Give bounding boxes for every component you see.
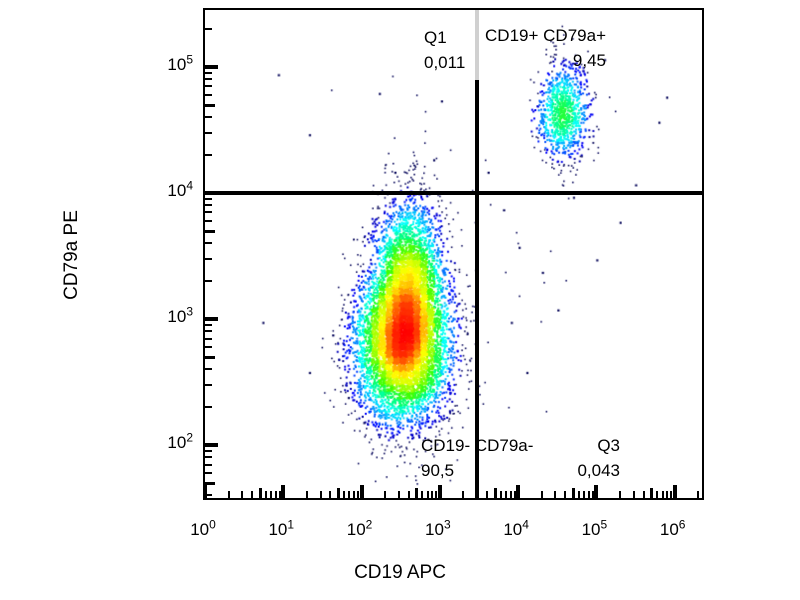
x-tick-label: 106	[660, 520, 686, 540]
y-tick-minor	[205, 198, 212, 200]
x-tick-minor	[476, 491, 478, 498]
x-tick-minor	[259, 488, 262, 498]
x-tick-minor	[697, 491, 699, 498]
quadrant-q3-percent: 0,043	[577, 459, 620, 484]
x-tick-minor	[306, 491, 308, 498]
x-tick-minor	[353, 491, 355, 498]
x-tick-minor	[564, 491, 566, 498]
x-tick-minor	[656, 491, 658, 498]
x-tick-label: 105	[582, 520, 608, 540]
x-tick-label: 100	[190, 520, 216, 540]
quadrant-gate-vertical-upper[interactable]	[475, 10, 479, 80]
x-tick-minor	[494, 488, 497, 498]
x-tick-minor	[398, 491, 400, 498]
y-tick-minor	[205, 220, 212, 222]
x-tick-minor	[505, 491, 507, 498]
x-tick-label: 102	[347, 520, 373, 540]
x-tick-minor	[510, 491, 512, 498]
x-tick-major	[360, 485, 364, 498]
x-tick-minor	[320, 491, 322, 498]
y-tick-minor	[205, 78, 212, 80]
x-tick-minor	[348, 491, 350, 498]
y-tick-minor	[205, 242, 212, 244]
y-tick-minor	[205, 104, 215, 107]
scatter-plot-canvas	[205, 10, 702, 498]
y-tick-minor	[205, 406, 212, 408]
y-tick-minor	[205, 258, 212, 260]
y-tick-minor	[205, 94, 212, 96]
quadrant-q4-percent: 90,5	[421, 459, 533, 484]
y-tick-minor	[205, 154, 212, 156]
y-tick-minor	[205, 482, 215, 485]
y-tick-minor	[205, 116, 212, 118]
y-tick-minor	[205, 368, 212, 370]
y-tick-minor	[205, 456, 212, 458]
y-tick-minor	[205, 85, 212, 87]
x-tick-minor	[265, 491, 267, 498]
y-tick-minor	[205, 464, 212, 466]
y-tick-label: 103	[141, 307, 193, 327]
quadrant-q2-percent: 9,45	[485, 49, 606, 74]
y-tick-major	[205, 191, 218, 195]
y-tick-major	[205, 317, 218, 321]
x-tick-minor	[541, 491, 543, 498]
x-tick-minor	[415, 488, 418, 498]
x-tick-minor	[650, 488, 653, 498]
x-tick-minor	[270, 491, 272, 498]
x-tick-minor	[275, 491, 277, 498]
y-tick-minor	[205, 280, 212, 282]
y-tick-label: 102	[141, 433, 193, 453]
x-tick-minor	[554, 491, 556, 498]
x-tick-major	[281, 485, 285, 498]
quadrant-q2-name: CD19+ CD79a+	[485, 26, 606, 45]
y-tick-minor	[205, 450, 212, 452]
y-tick-minor	[205, 330, 212, 332]
y-tick-minor	[205, 132, 212, 134]
x-tick-minor	[251, 491, 253, 498]
x-tick-minor	[241, 491, 243, 498]
y-tick-minor	[205, 346, 212, 348]
x-axis-title: CD19 APC	[0, 562, 800, 584]
x-tick-minor	[643, 491, 645, 498]
y-tick-minor	[205, 204, 212, 206]
x-tick-label: 104	[503, 520, 529, 540]
y-tick-major	[205, 65, 218, 69]
x-tick-minor	[462, 491, 464, 498]
y-tick-minor	[205, 472, 212, 474]
x-tick-minor	[486, 491, 488, 498]
x-tick-minor	[431, 491, 433, 498]
quadrant-label-q2: CD19+ CD79a+ 9,45	[485, 24, 606, 73]
x-tick-minor	[583, 491, 585, 498]
x-tick-major	[673, 485, 677, 498]
x-tick-minor	[588, 491, 590, 498]
quadrant-label-q1: Q1 0,011	[424, 26, 465, 75]
x-tick-major	[438, 485, 442, 498]
quadrant-q1-percent: 0,011	[424, 51, 465, 76]
flow-cytometry-figure: Q1 0,011 CD19+ CD79a+ 9,45 CD19- CD79a- …	[0, 0, 800, 600]
plot-area[interactable]: Q1 0,011 CD19+ CD79a+ 9,45 CD19- CD79a- …	[203, 8, 704, 500]
quadrant-q1-name: Q1	[424, 28, 447, 47]
x-tick-minor	[633, 491, 635, 498]
x-tick-minor	[662, 491, 664, 498]
quadrant-gate-horizontal[interactable]	[205, 191, 704, 195]
y-tick-major	[205, 443, 218, 447]
quadrant-label-q3: Q3 0,043	[577, 434, 620, 483]
y-tick-label: 105	[141, 55, 193, 75]
x-tick-minor	[427, 491, 429, 498]
x-tick-major	[516, 485, 520, 498]
quadrant-q4-name: CD19- CD79a-	[421, 436, 533, 455]
quadrant-label-q4: CD19- CD79a- 90,5	[421, 434, 533, 483]
x-tick-minor	[572, 488, 575, 498]
x-tick-minor	[228, 491, 230, 498]
x-tick-minor	[666, 491, 668, 498]
x-tick-minor	[578, 491, 580, 498]
x-tick-label: 101	[268, 520, 294, 540]
x-tick-label: 103	[425, 520, 451, 540]
y-tick-minor	[205, 338, 212, 340]
y-tick-minor	[205, 384, 212, 386]
x-tick-minor	[500, 491, 502, 498]
x-tick-minor	[619, 491, 621, 498]
x-tick-minor	[384, 491, 386, 498]
x-tick-major	[594, 485, 598, 498]
y-tick-minor	[205, 28, 212, 30]
quadrant-q3-name: Q3	[597, 436, 620, 455]
y-tick-label: 104	[141, 181, 193, 201]
x-tick-minor	[337, 488, 340, 498]
y-tick-minor	[205, 324, 212, 326]
y-tick-minor	[205, 356, 215, 359]
y-tick-minor	[205, 494, 212, 496]
x-tick-minor	[329, 491, 331, 498]
y-axis-title: CD79a PE	[61, 155, 83, 355]
y-tick-minor	[205, 230, 215, 233]
y-tick-minor	[205, 72, 212, 74]
y-tick-minor	[205, 211, 212, 213]
x-tick-minor	[408, 491, 410, 498]
x-tick-minor	[421, 491, 423, 498]
x-tick-minor	[343, 491, 345, 498]
